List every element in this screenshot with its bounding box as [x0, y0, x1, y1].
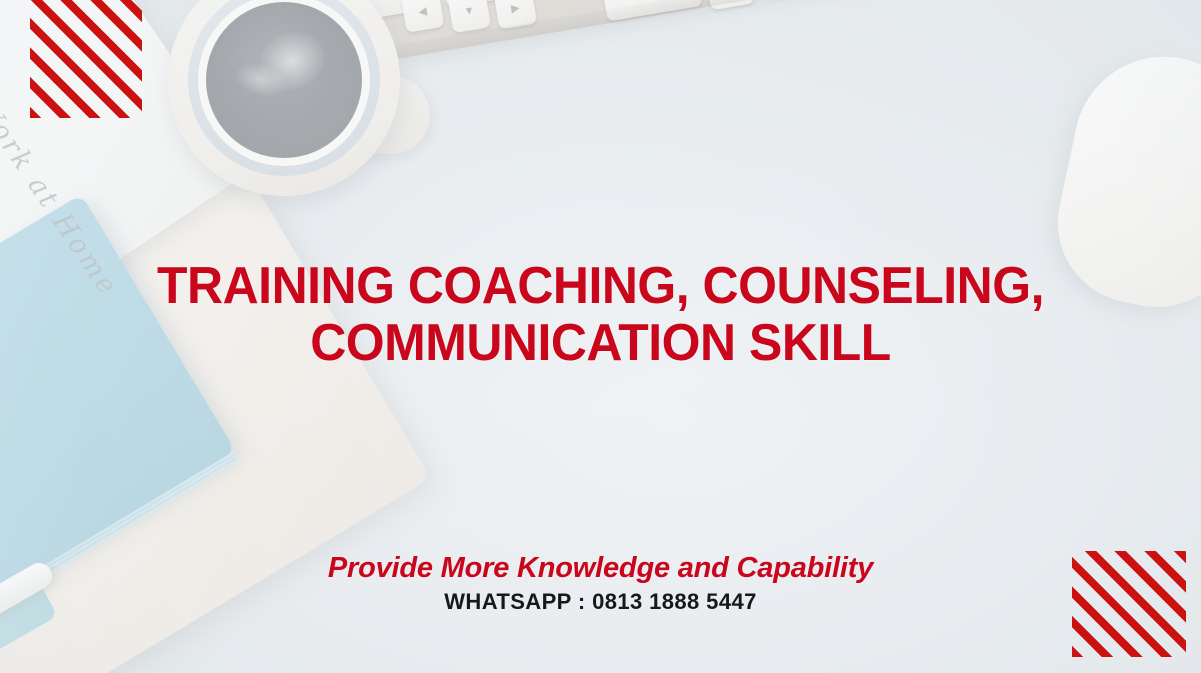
banner-headline: TRAINING COACHING, COUNSELING, COMMUNICA… — [24, 258, 1177, 372]
diagonal-stripes-icon-top-left — [30, 0, 142, 118]
banner-contact-whatsapp: WHATSAPP : 0813 1888 5447 — [0, 589, 1201, 615]
promo-banner: shift ◀ ▲ ▼ ▶ 7 8 9 - 4 5 6 — [0, 0, 1201, 673]
banner-tagline: Provide More Knowledge and Capability — [0, 552, 1201, 585]
